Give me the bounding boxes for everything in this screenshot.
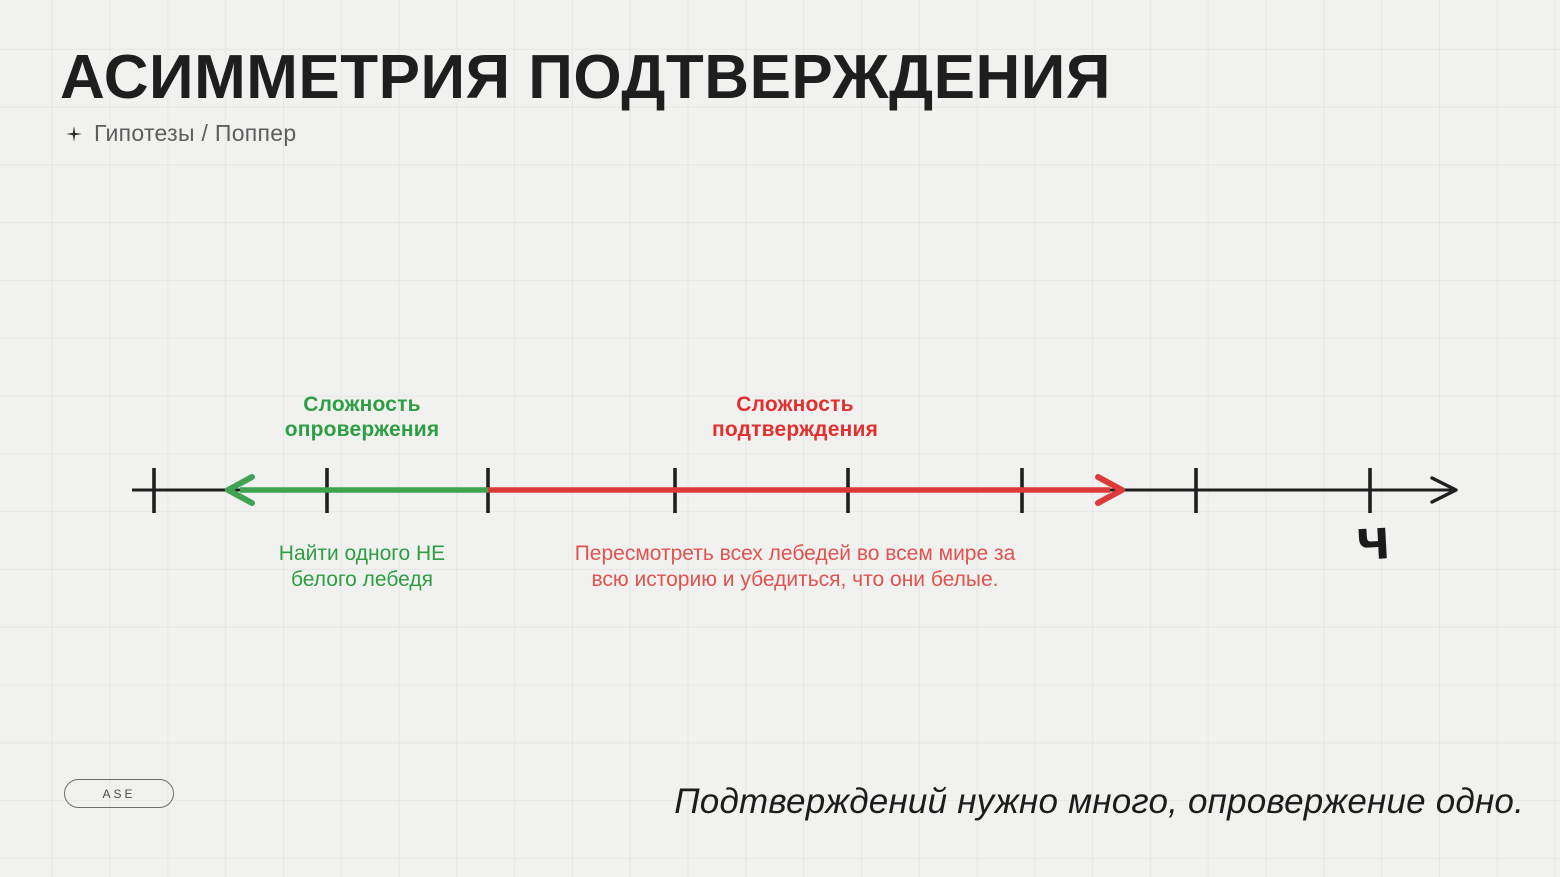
handwritten-mark: Ч <box>1355 523 1391 567</box>
brand-badge[interactable]: ASE <box>64 779 174 808</box>
subtitle-row: Гипотезы / Поппер <box>66 120 1111 147</box>
refutation-arrow <box>228 477 488 503</box>
confirmation-arrow <box>488 477 1122 503</box>
slide-canvas: АСИММЕТРИЯ ПОДТВЕРЖДЕНИЯ Гипотезы / Попп… <box>0 0 1560 877</box>
slide-tagline: Подтверждений нужно много, опровержение … <box>674 782 1524 822</box>
brand-badge-label: ASE <box>102 787 135 801</box>
slide-header: АСИММЕТРИЯ ПОДТВЕРЖДЕНИЯ Гипотезы / Попп… <box>60 46 1111 147</box>
axis-ticks <box>154 468 1370 513</box>
axis-end-arrowhead <box>1432 478 1456 502</box>
refutation-description: Найти одного НЕ белого лебедя <box>212 541 512 592</box>
confirmation-caption-group: Сложность подтверждения Пересмотреть все… <box>640 393 950 443</box>
refutation-caption-group: Сложность опровержения Найти одного НЕ б… <box>238 393 486 443</box>
refutation-heading: Сложность опровержения <box>238 393 486 443</box>
confirmation-heading: Сложность подтверждения <box>640 393 950 443</box>
page-title: АСИММЕТРИЯ ПОДТВЕРЖДЕНИЯ <box>60 46 1111 109</box>
sparkle-icon <box>66 126 82 142</box>
breadcrumb: Гипотезы / Поппер <box>94 120 296 147</box>
confirmation-description: Пересмотреть всех лебедей во всем мире з… <box>501 541 1089 592</box>
